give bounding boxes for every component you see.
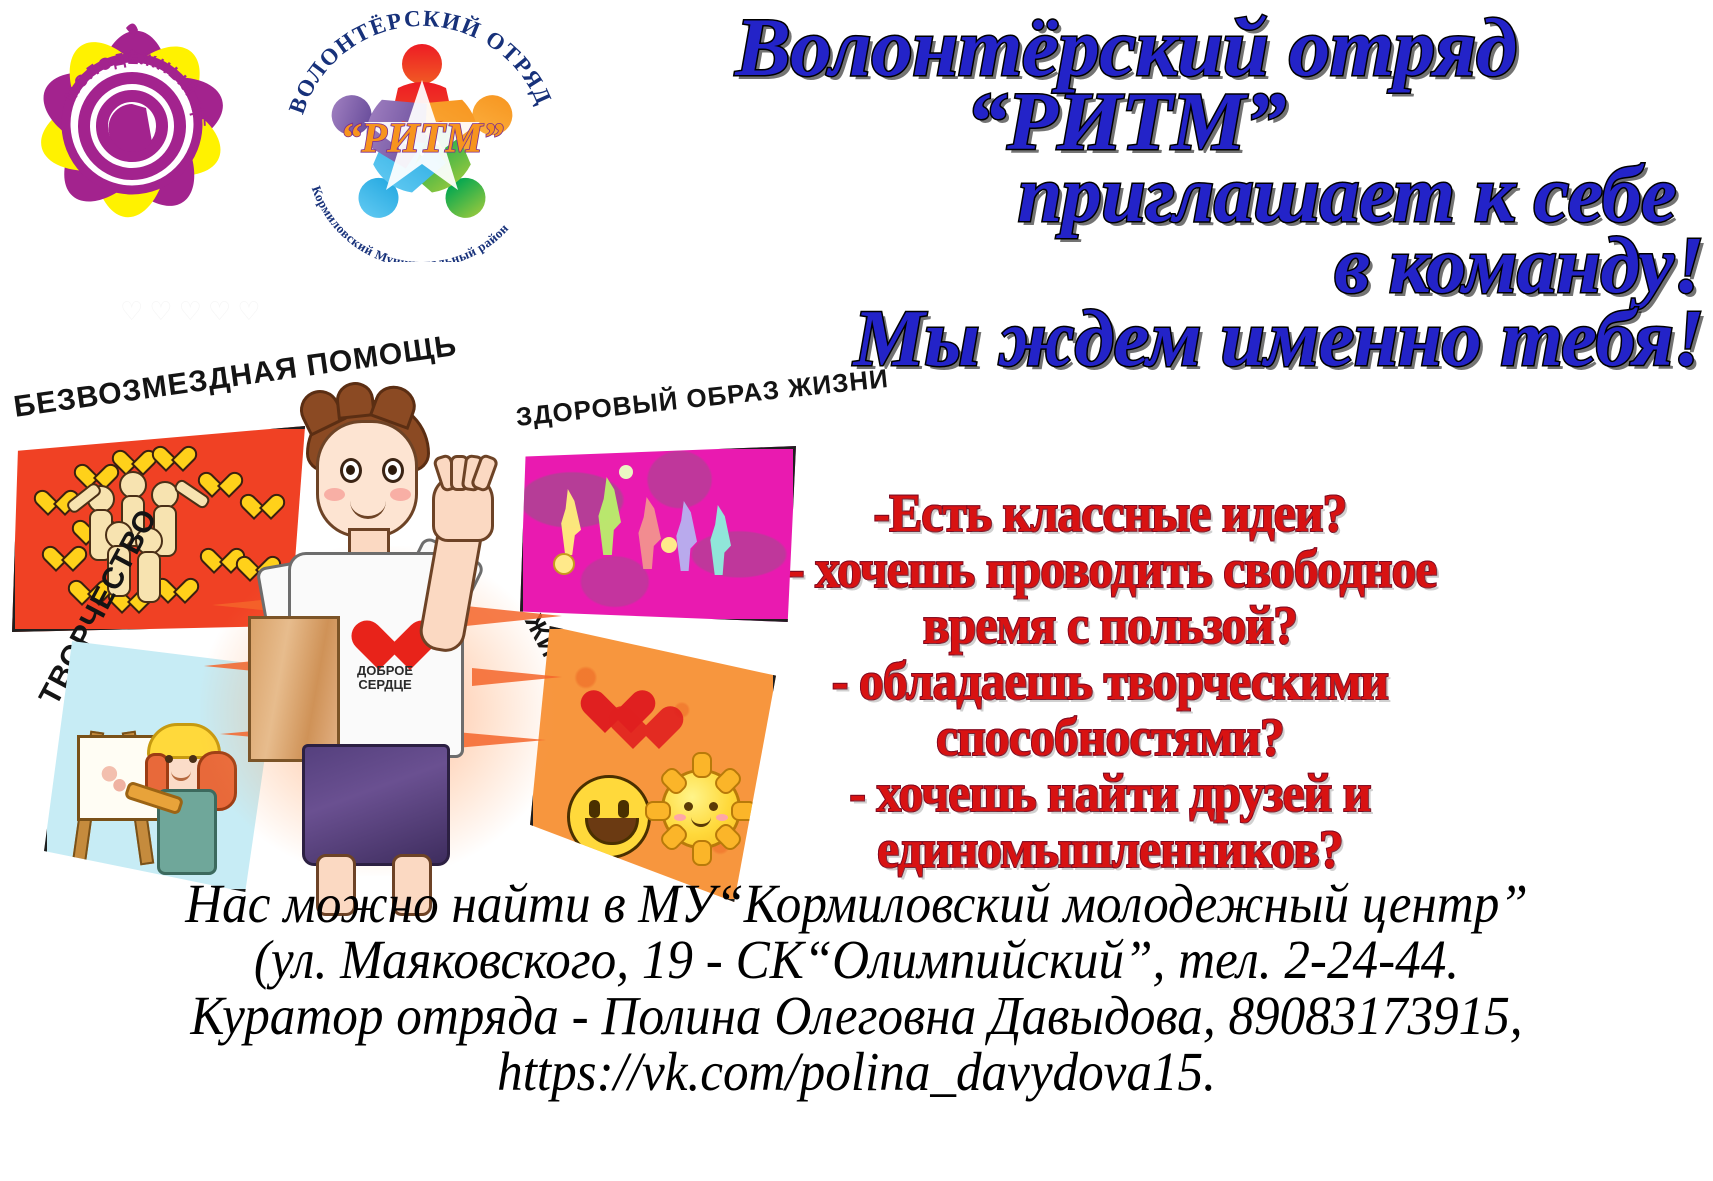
banner-label-zdorovyy-obraz-zhizni: ЗДОРОВЫЙ ОБРАЗ ЖИЗНИ bbox=[514, 363, 890, 433]
panel-zdorovyy-obraz-zhizni bbox=[520, 446, 796, 622]
molodezhny-centr-logo: МОЛОДЁЖНЫЙ ЦЕНТР bbox=[6, 4, 258, 244]
question-line-7: единомышленников? bbox=[788, 822, 1432, 876]
question-line-4: - обладаешь творческими bbox=[788, 654, 1432, 708]
boy-waving-hand bbox=[432, 474, 494, 542]
poster-canvas: МОЛОДЁЖНЫЙ ЦЕНТР bbox=[0, 0, 1713, 1181]
footer-line-4: https://vk.com/polina_davydova15. bbox=[60, 1044, 1653, 1100]
question-line-5: способностями? bbox=[788, 710, 1432, 764]
footer-line-3: Куратор отряда - Полина Олеговна Давыдов… bbox=[60, 988, 1653, 1044]
footer-line-2: (ул. Маяковского, 19 - СК“Олимпийский”, … bbox=[60, 932, 1653, 988]
footer-line-1: Нас можно найти в МУ“Кормиловский молоде… bbox=[60, 876, 1653, 932]
faded-artifact-text: ♡♡♡♡♡ bbox=[120, 296, 540, 336]
contact-footer: Нас можно найти в МУ“Кормиловский молоде… bbox=[0, 876, 1713, 1100]
question-line-1: -Есть классные идеи? bbox=[788, 486, 1432, 540]
sun-icon bbox=[661, 769, 741, 849]
ritm-volunteer-logo: ВОЛОНТЁРСКИЙ ОТРЯД Кормиловский Муниципа… bbox=[272, 0, 572, 262]
questions-block: -Есть классные идеи? - хочешь проводить … bbox=[760, 486, 1460, 876]
question-line-2: - хочешь проводить свободное bbox=[788, 542, 1432, 596]
question-line-3: время с пользой? bbox=[788, 598, 1432, 652]
boy-shorts bbox=[302, 744, 450, 866]
ritm-center-label: “РИТМ” bbox=[340, 116, 503, 162]
question-line-6: - хочешь найти друзей и bbox=[788, 766, 1432, 820]
boy-head bbox=[316, 420, 418, 538]
donation-box bbox=[248, 616, 340, 762]
panel-zhiznelyubie bbox=[530, 626, 776, 902]
tshirt-text-line-2: СЕРДЦЕ bbox=[358, 677, 411, 692]
title-line-2: “РИТМ” bbox=[548, 82, 1704, 162]
volunteer-illustration: ♡♡♡♡♡ БЕЗВОЗМЕЗДНАЯ ПОМОЩЬ bbox=[0, 286, 820, 886]
smiley-face-icon bbox=[567, 775, 651, 859]
volunteer-boy-figure: ДОБРОЕ СЕРДЦЕ bbox=[240, 396, 530, 906]
tshirt-text: ДОБРОЕ СЕРДЦЕ bbox=[348, 664, 422, 691]
